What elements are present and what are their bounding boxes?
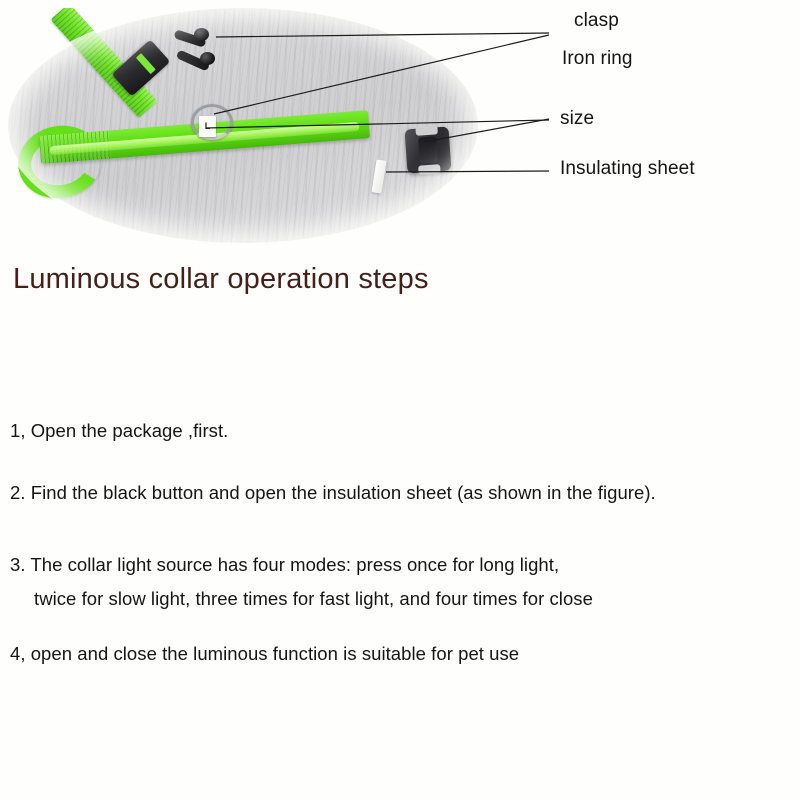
callout-label-iron-ring: Iron ring <box>562 48 633 70</box>
clasp-prong-tip-upper <box>194 28 209 41</box>
step-item-2: 2. Find the black button and open the in… <box>10 482 656 504</box>
callout-label-size: size <box>560 108 594 130</box>
step-item-4: 4, open and close the luminous function … <box>10 643 519 665</box>
page-title: Luminous collar operation steps <box>13 263 429 296</box>
buckle-notch-top <box>415 125 438 136</box>
product-photo: L <box>8 8 478 243</box>
buckle-notch-bottom <box>418 164 441 175</box>
callout-label-clasp: clasp <box>574 10 619 32</box>
buckle-center-button <box>418 136 438 163</box>
step-item-1: 1, Open the package ,first. <box>10 420 228 442</box>
callout-label-insulating-sheet: Insulating sheet <box>560 158 695 180</box>
step-item-3: 3. The collar light source has four mode… <box>10 554 559 576</box>
clasp-prong-tip-lower <box>200 52 215 65</box>
side-release-buckle <box>405 127 452 174</box>
adjuster-slot <box>136 53 156 74</box>
product-figure-panel: L clasp Iron ring size Insulating sheet <box>0 0 800 250</box>
step-item-3-continuation: twice for slow light, three times for fa… <box>34 588 593 610</box>
size-tag: L <box>199 116 216 137</box>
